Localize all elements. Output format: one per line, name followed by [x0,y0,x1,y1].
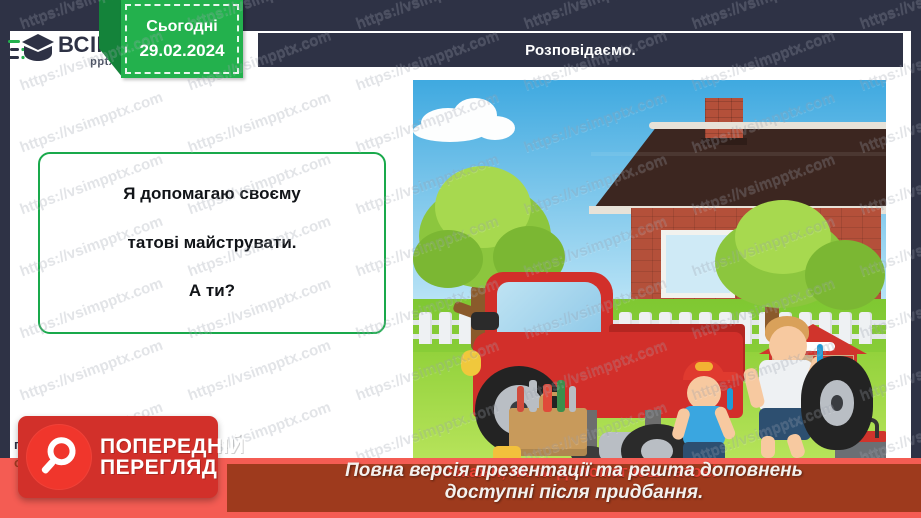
today-badge-label: Сьогодні [146,18,217,36]
spanner-icon [569,386,576,412]
wrench-icon [529,380,537,412]
car-windshield [497,282,601,338]
purchase-notice: Повна версія презентації та решта доповн… [227,450,921,514]
preview-badge-text: ПОПЕРЕДНІЙ ПЕРЕГЛЯД [100,436,245,479]
tree-foliage [413,230,483,288]
purchase-notice-line-2: доступні після придбання. [445,482,704,504]
preview-badge-line-1: ПОПЕРЕДНІЙ [100,436,245,457]
slide-header-bar: Розповідаємо. [258,33,903,67]
watermark-text: https://vsimpptx.com [690,0,838,32]
person-boy [675,362,739,458]
cloud-icon [475,116,515,140]
watermark-text: https://vsimpptx.com [522,0,670,32]
speech-text-box: Я допомагаю своєму татові майструвати. А… [38,152,386,334]
chimney-cap [701,138,747,145]
roof-detail [591,152,886,156]
watermark-text: https://vsimpptx.com [858,0,921,32]
today-badge-date: 29.02.2024 [139,41,224,61]
roof-ridge [649,122,886,129]
slide-root: ВСІМ pptx Сьогодні 29.02.2024 Розповідає… [0,0,921,518]
speech-line-2: татові майструвати. [128,233,297,253]
car-mirror [471,312,499,330]
tire-held-by-father [801,356,873,450]
illustration-car-repair [413,80,886,458]
tree-foliage [805,240,885,310]
today-badge: Сьогодні 29.02.2024 [121,0,243,78]
hammer-icon [557,380,565,412]
screwdriver-icon [517,386,524,412]
purchase-notice-line-1: Повна версія презентації та решта доповн… [345,460,803,482]
screwdriver-icon [727,388,733,410]
pliers-icon [543,384,552,412]
head [687,376,721,410]
watermark-text: https://vsimpptx.com [354,0,502,32]
speech-line-3: А ти? [189,281,235,301]
magnifier-icon [26,424,92,490]
car-headlight [461,350,481,376]
page-title: Розповідаємо. [525,42,636,59]
chimney [705,98,743,142]
preview-badge[interactable]: ПОПЕРЕДНІЙ ПЕРЕГЛЯД [18,416,218,498]
speech-line-1: Я допомагаю своєму [123,184,300,204]
graduation-cap-icon [8,32,54,70]
preview-badge-line-2: ПЕРЕГЛЯД [100,457,245,478]
